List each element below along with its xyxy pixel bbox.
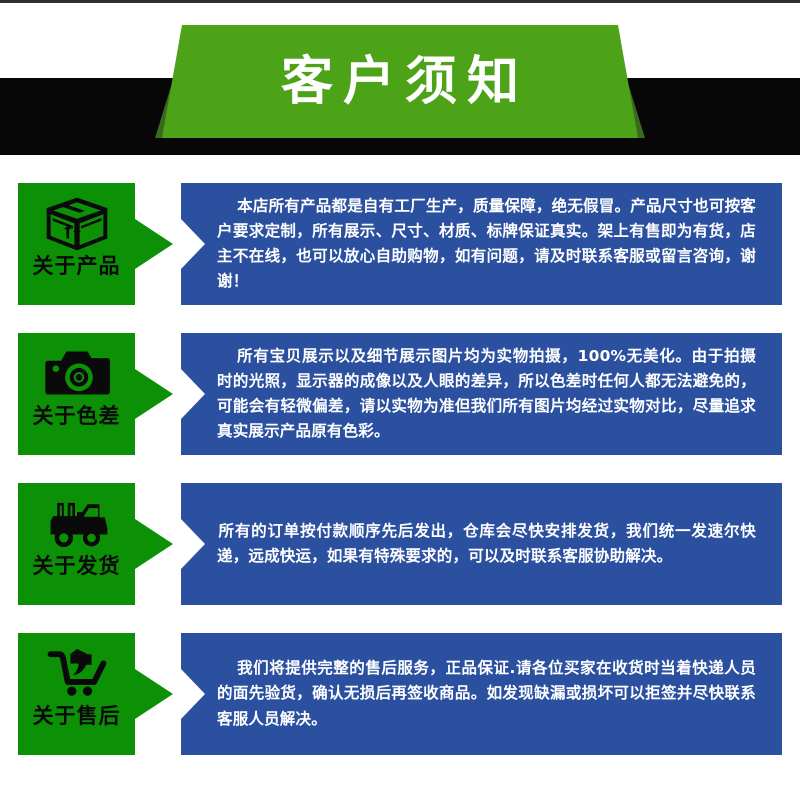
notice-row: 关于发货 所有的订单按付款顺序先后发出，仓库会尽快安排发货，我们统一发速尔快递，…	[0, 483, 800, 605]
notice-body: 我们将提供完整的售后服务，正品保证.请各位买家在收货时当着快递人员的面先验货，确…	[181, 633, 782, 755]
return-cart-icon	[44, 645, 110, 703]
label-content: 关于售后	[18, 633, 135, 755]
forklift-truck-icon	[44, 495, 110, 553]
ribbon-banner: 客户须知	[162, 25, 638, 138]
notice-body: 所有的订单按付款顺序先后发出，仓库会尽快安排发货，我们统一发速尔快递，远成快运，…	[181, 483, 782, 605]
notice-body: 所有宝贝展示以及细节展示图片均为实物拍摄，100%无美化。由于拍摄时的光照，显示…	[181, 333, 782, 455]
box-package-icon	[44, 195, 110, 253]
label-text: 关于发货	[33, 555, 121, 578]
label-text: 关于产品	[33, 255, 121, 278]
label-content: 关于色差	[18, 333, 135, 455]
label-text: 关于售后	[33, 705, 121, 728]
page-header: 客户须知	[0, 3, 800, 155]
notice-label-product: 关于产品	[18, 183, 173, 305]
notice-body-text: 所有的订单按付款顺序先后发出，仓库会尽快安排发货，我们统一发速尔快递，远成快运，…	[181, 519, 782, 569]
page-title: 客户须知	[271, 56, 529, 108]
notice-body-text: 所有宝贝展示以及细节展示图片均为实物拍摄，100%无美化。由于拍摄时的光照，显示…	[181, 344, 782, 444]
notice-body-text: 本店所有产品都是自有工厂生产，质量保障，绝无假冒。产品尺寸也可按客户要求定制，所…	[181, 194, 782, 294]
notice-label-aftersales: 关于售后	[18, 633, 173, 755]
notice-body-text: 我们将提供完整的售后服务，正品保证.请各位买家在收货时当着快递人员的面先验货，确…	[181, 656, 782, 731]
notice-row: 关于色差 所有宝贝展示以及细节展示图片均为实物拍摄，100%无美化。由于拍摄时的…	[0, 333, 800, 455]
notice-list: 关于产品 本店所有产品都是自有工厂生产，质量保障，绝无假冒。产品尺寸也可按客户要…	[0, 183, 800, 783]
page-root: 客户须知	[0, 0, 800, 802]
notice-body: 本店所有产品都是自有工厂生产，质量保障，绝无假冒。产品尺寸也可按客户要求定制，所…	[181, 183, 782, 305]
label-content: 关于产品	[18, 183, 135, 305]
notice-label-shipping: 关于发货	[18, 483, 173, 605]
notice-row: 关于产品 本店所有产品都是自有工厂生产，质量保障，绝无假冒。产品尺寸也可按客户要…	[0, 183, 800, 305]
label-text: 关于色差	[33, 405, 121, 428]
notice-row: 关于售后 我们将提供完整的售后服务，正品保证.请各位买家在收货时当着快递人员的面…	[0, 633, 800, 755]
camera-icon	[44, 345, 110, 403]
notice-label-color: 关于色差	[18, 333, 173, 455]
label-content: 关于发货	[18, 483, 135, 605]
